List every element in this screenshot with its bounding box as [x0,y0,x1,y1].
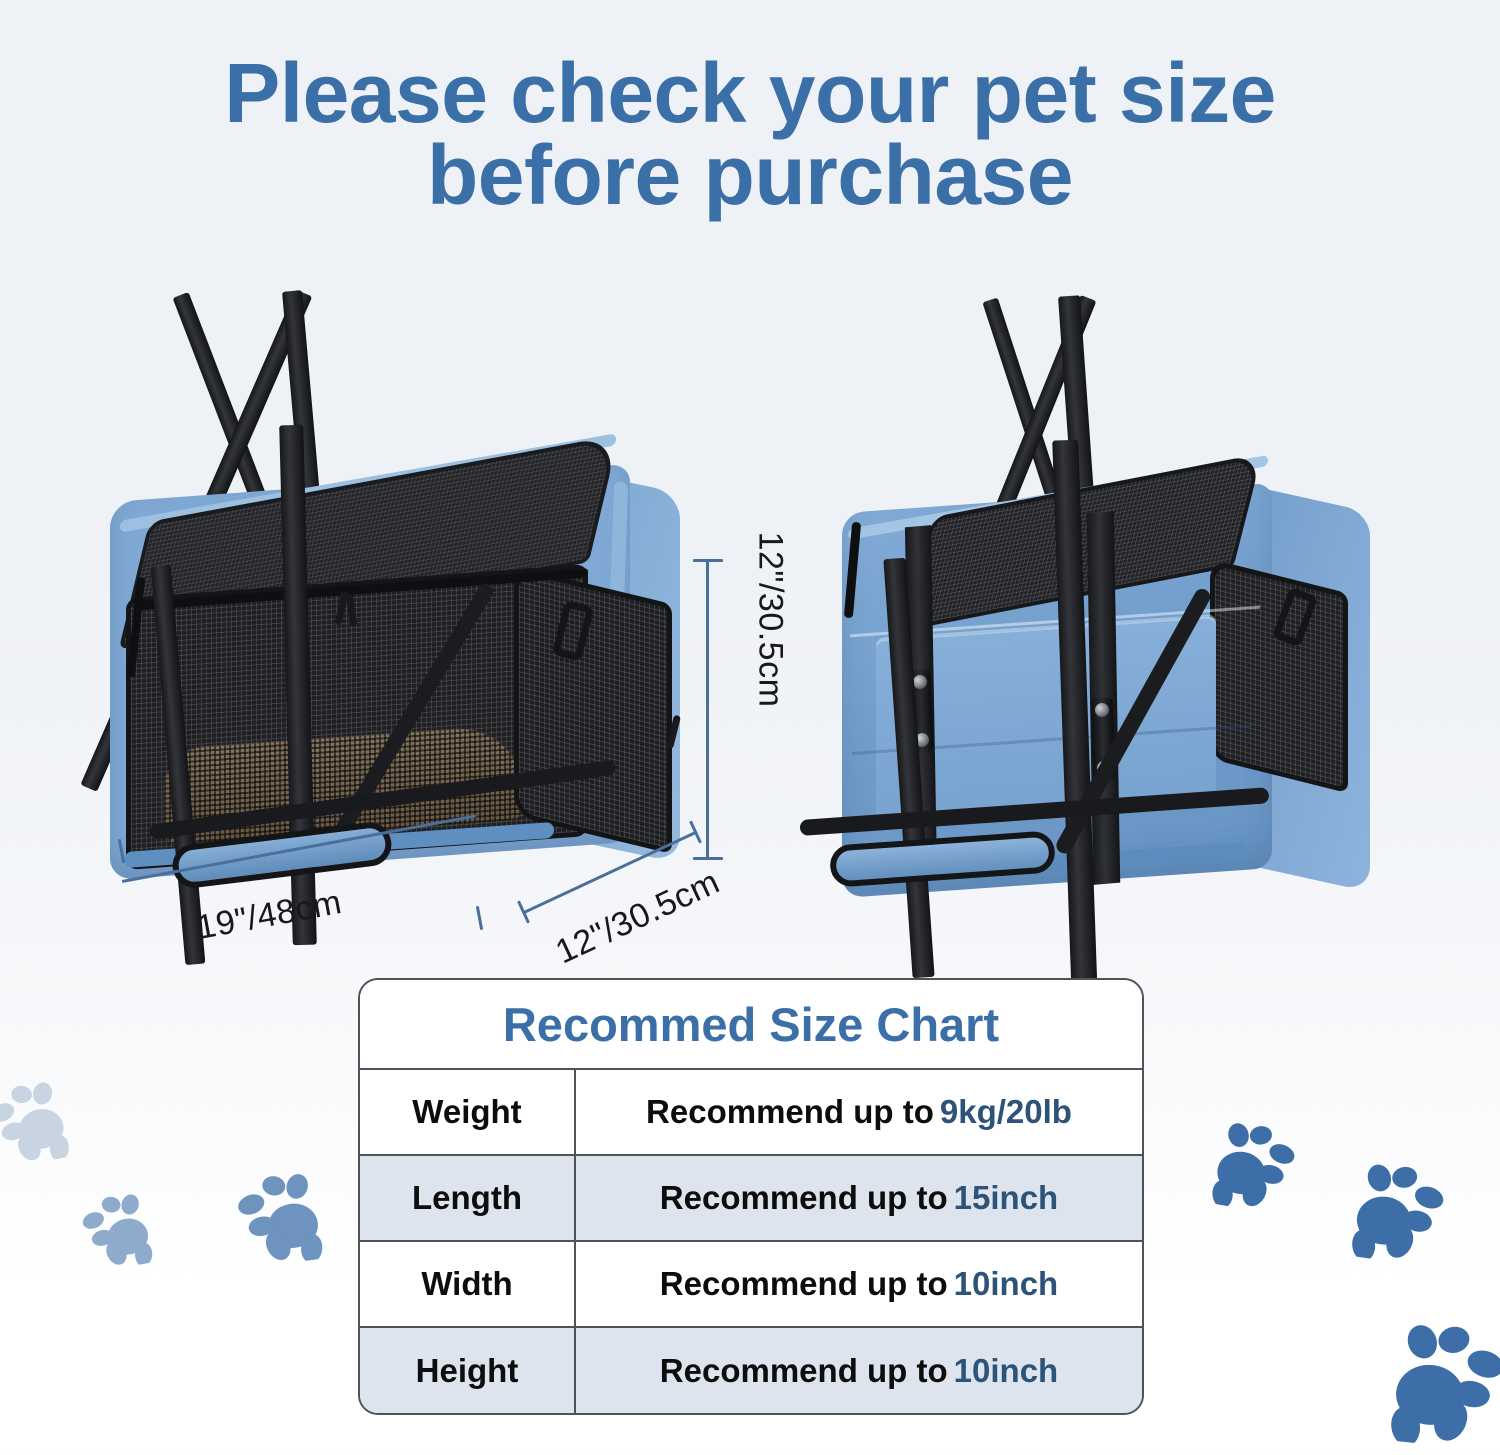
infographic-canvas: Please check your pet size before purcha… [0,0,1500,1455]
paw-print-icon [72,1184,162,1274]
paw-print-icon [1339,1151,1456,1268]
size-chart-rows: WeightRecommend up to9kg/20lbLengthRecom… [360,1070,1142,1414]
size-chart-label-weight: Weight [360,1070,576,1154]
recommended-size-chart: Recommed Size Chart WeightRecommend up t… [358,978,1144,1415]
value-prefix: Recommend up to [646,1093,934,1131]
size-chart-label-width: Width [360,1242,576,1326]
table-row: LengthRecommend up to15inch [360,1156,1142,1242]
paw-print-icon [0,1070,80,1172]
title-line-2: before purchase [0,134,1500,216]
value-number: 10inch [954,1352,1059,1390]
dimension-label-height: 12"/30.5cm [751,510,790,730]
dimension-endcap [476,906,483,930]
size-chart-value-length: Recommend up to15inch [576,1156,1142,1240]
dimension-endcap [693,857,723,860]
size-chart-value-width: Recommend up to10inch [576,1242,1142,1326]
value-prefix: Recommend up to [660,1352,948,1390]
paw-print-icon [1201,1111,1308,1218]
page-title: Please check your pet size before purcha… [0,52,1500,217]
table-row: WeightRecommend up to9kg/20lb [360,1070,1142,1156]
carrier-end-mesh-panel [1210,559,1348,793]
size-chart-label-length: Length [360,1156,576,1240]
carrier-end-mesh-panel [514,566,672,854]
size-chart-value-height: Recommend up to10inch [576,1328,1142,1414]
value-number: 10inch [954,1265,1059,1303]
size-chart-label-height: Height [360,1328,576,1414]
pet-carrier-mesh-open-view [110,285,710,905]
table-row: WidthRecommend up to10inch [360,1242,1142,1328]
value-prefix: Recommend up to [660,1179,948,1217]
size-chart-title: Recommed Size Chart [360,980,1142,1070]
dimension-endcap [693,559,723,562]
size-chart-value-weight: Recommend up to9kg/20lb [576,1070,1142,1154]
value-number: 15inch [954,1179,1059,1217]
paw-print-icon [1376,1310,1500,1453]
paw-print-icon [226,1162,334,1270]
pet-carrier-fabric-closed-view [790,290,1390,910]
value-prefix: Recommend up to [660,1265,948,1303]
dimension-line-height [706,560,709,860]
value-number: 9kg/20lb [940,1093,1072,1131]
table-row: HeightRecommend up to10inch [360,1328,1142,1414]
title-line-1: Please check your pet size [224,46,1276,140]
